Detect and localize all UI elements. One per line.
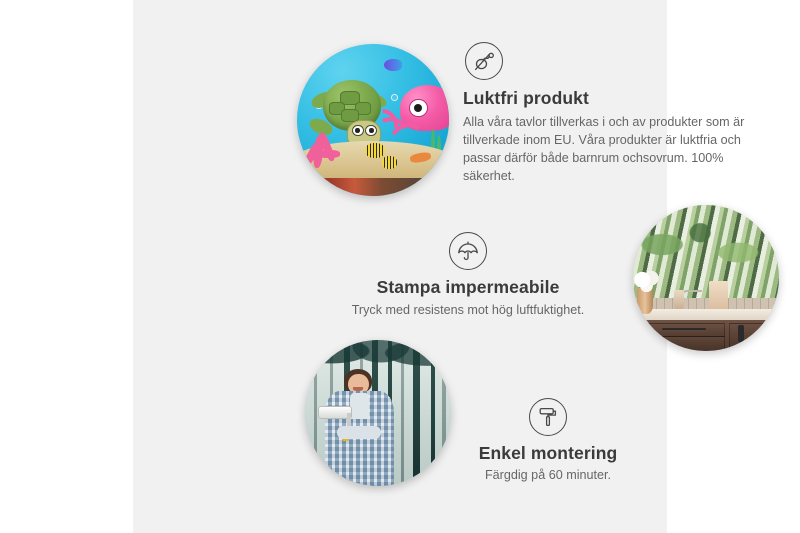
ocean-foreground-strip [297,178,449,196]
feature-title: Stampa impermeabile [333,277,603,298]
feature-description: Alla våra tavlor tillverkas i och av pro… [463,114,763,186]
umbrella-icon [449,232,487,270]
bathroom-scene [633,205,779,351]
yellow-fish-icon [382,156,397,168]
faucet-icon [681,290,702,311]
feature-waterproof: Stampa impermeabile Tryck med resistens … [333,232,603,320]
octopus-eye [409,99,428,118]
bubble-icon [391,94,398,101]
feature-description: Tryck med resistens mot hög luftfuktighe… [333,302,603,320]
blue-fish-icon [384,59,402,71]
infographic-stage: Luktfri produkt Alla våra tavlor tillver… [0,0,800,533]
vanity-drawer [729,323,779,351]
product-image-painter [305,340,451,486]
woman-crossed-arms [337,426,381,439]
candle [674,290,684,309]
content-panel: Luktfri produkt Alla våra tavlor tillver… [133,0,667,533]
yellow-fish-icon [365,143,385,158]
vanity-drawer [648,323,726,337]
no-odor-spray-bottle-icon [465,42,503,80]
feature-odorless: Luktfri produkt Alla våra tavlor tillver… [463,42,763,186]
feature-description: Färgdig på 60 minuter. [433,467,663,485]
drawer-handle [738,325,744,342]
product-image-ocean [297,44,449,196]
feature-assembly: Enkel montering Färgdig på 60 minuter. [433,398,663,485]
feature-title: Luktfri produkt [463,88,763,109]
coral [318,150,339,158]
vanity-drawer [648,336,726,351]
painter-scene [305,340,451,486]
product-image-bathroom [633,205,779,351]
forest-canopy [305,340,451,390]
drawer-handle [662,328,706,329]
vanity-cabinet [642,320,779,351]
feature-title: Enkel montering [433,443,663,464]
woman-inner-shirt [350,393,369,419]
paint-roller-icon [529,398,567,436]
white-flowers [633,269,661,292]
ocean-scene [297,44,449,196]
